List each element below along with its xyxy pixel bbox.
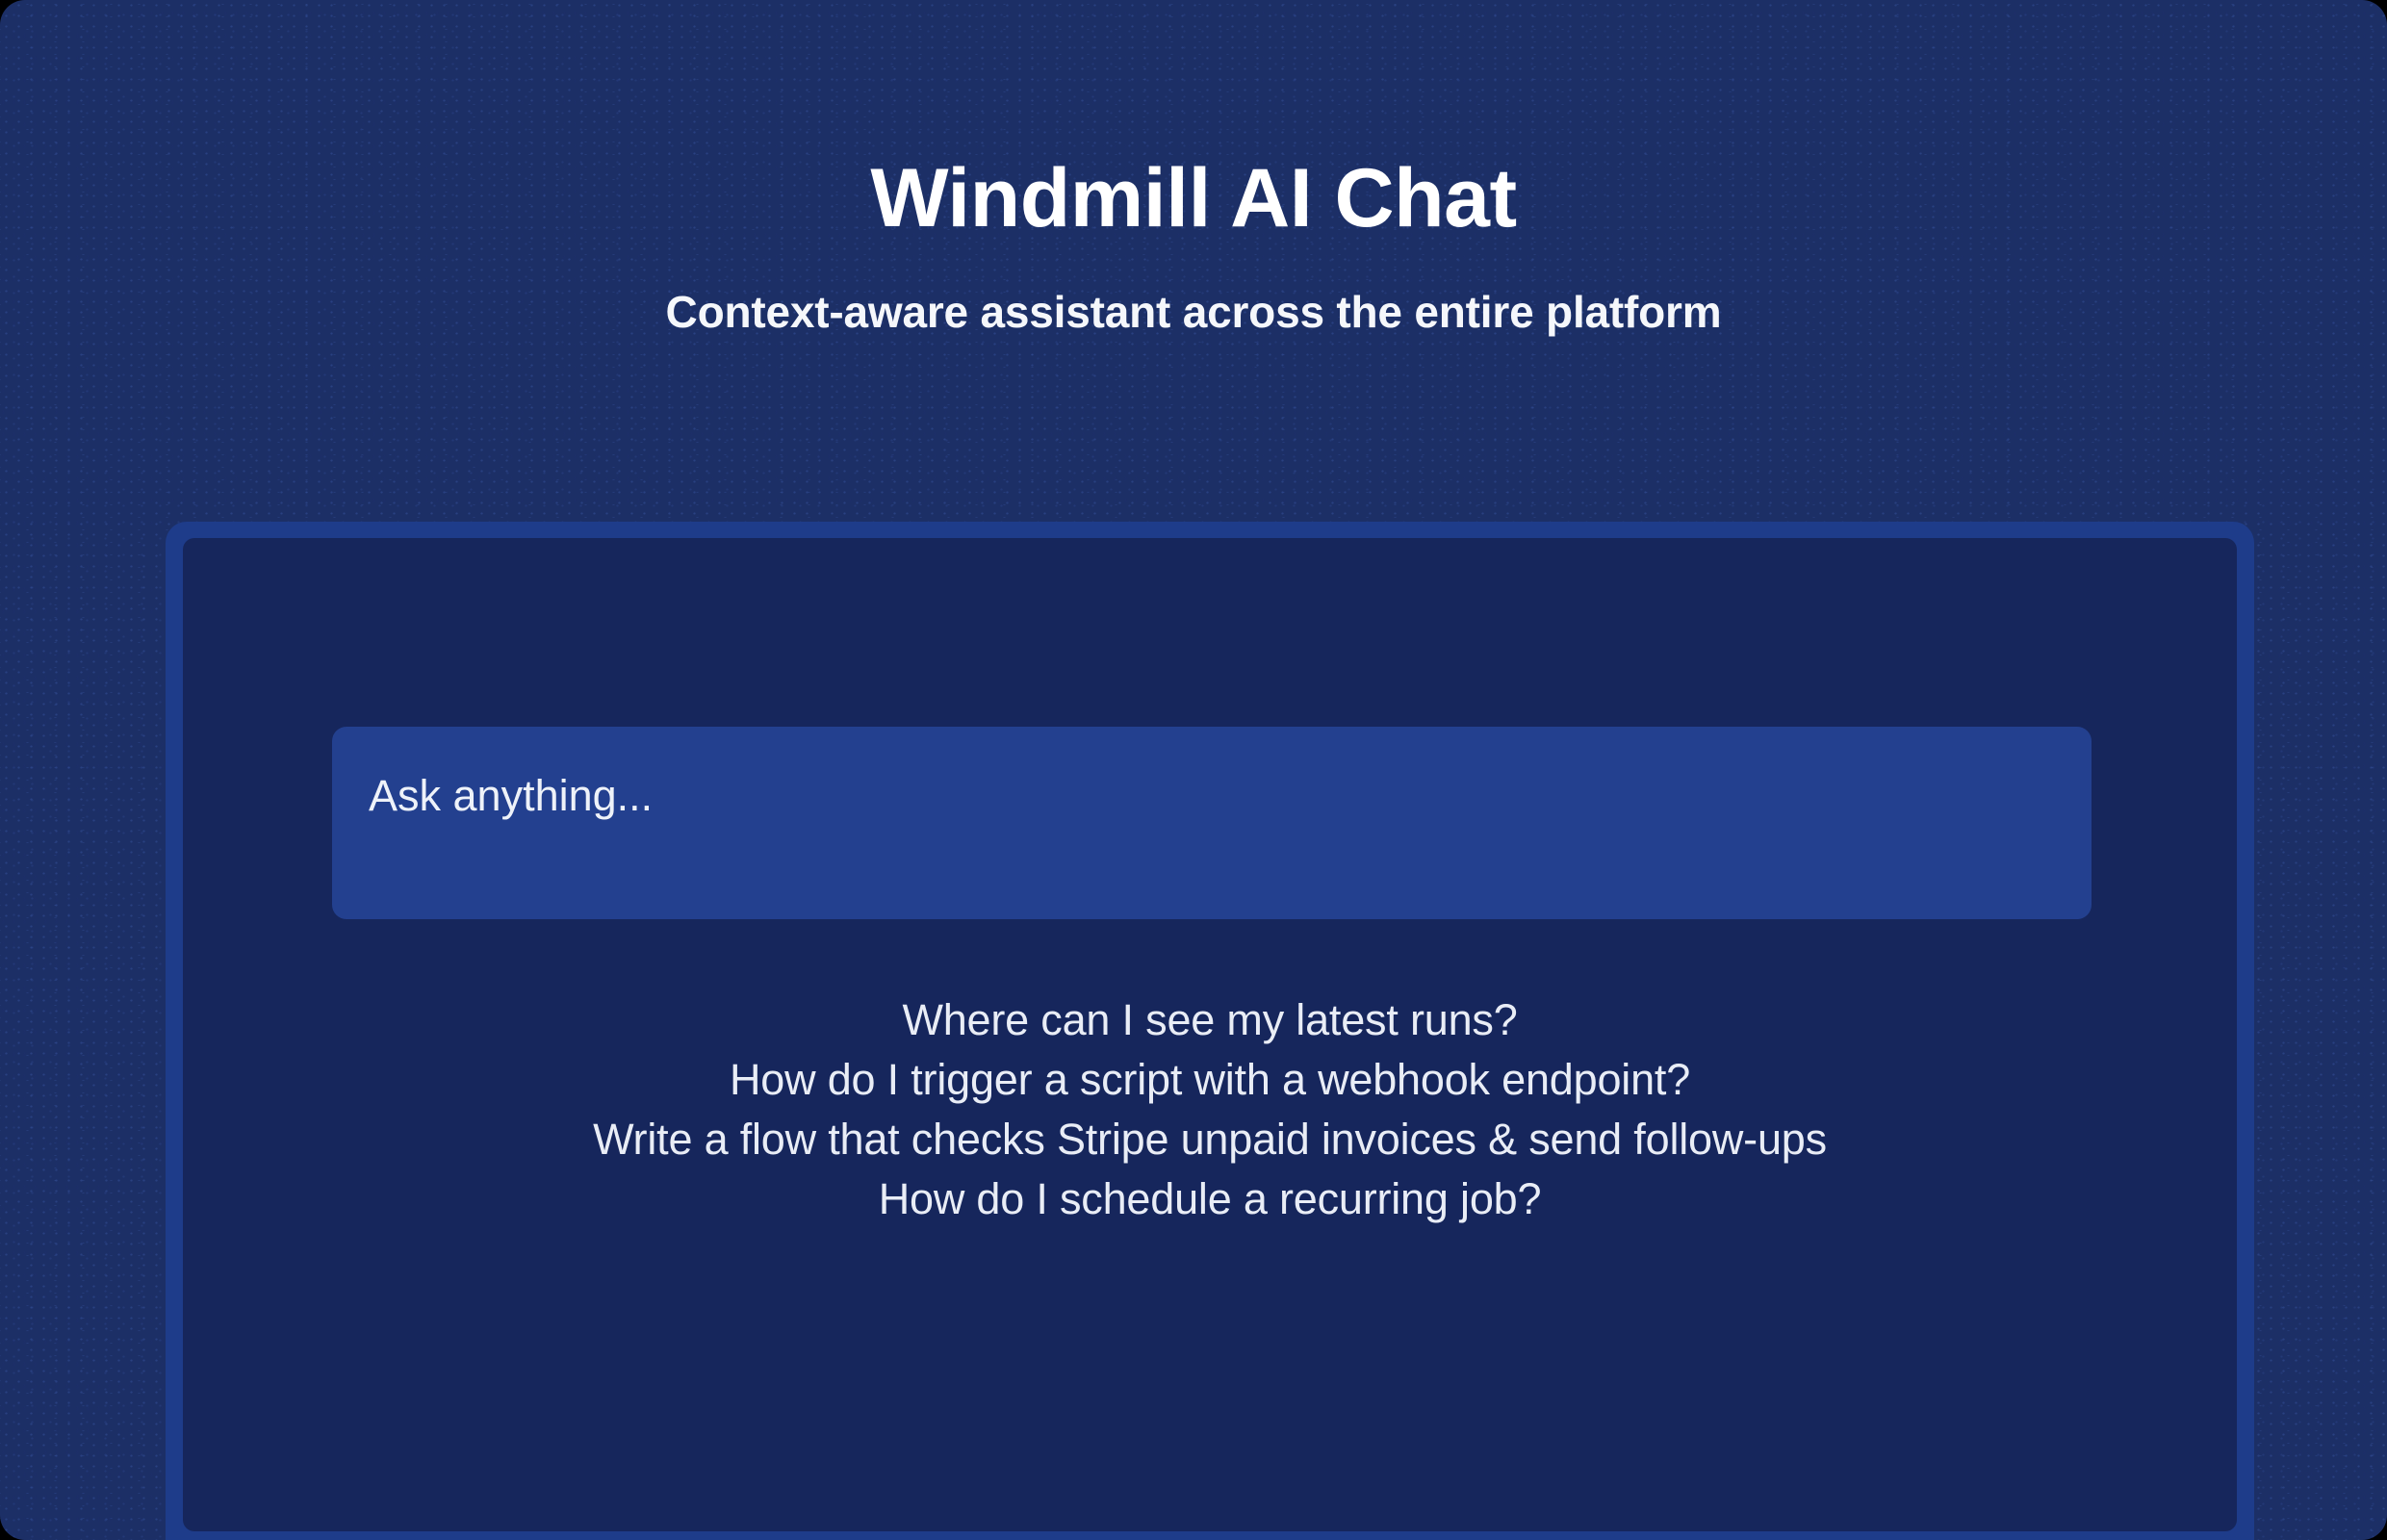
suggestion-item[interactable]: How do I schedule a recurring job? — [183, 1169, 2237, 1229]
suggestion-item[interactable]: How do I trigger a script with a webhook… — [183, 1050, 2237, 1110]
page-title: Windmill AI Chat — [0, 0, 2387, 240]
page-subtitle: Context-aware assistant across the entir… — [0, 240, 2387, 334]
suggestion-list: Where can I see my latest runs? How do I… — [183, 990, 2237, 1229]
suggestion-item[interactable]: Write a flow that checks Stripe unpaid i… — [183, 1110, 2237, 1169]
app-root: Windmill AI Chat Context-aware assistant… — [0, 0, 2387, 1540]
chat-input[interactable] — [332, 727, 2092, 919]
chat-panel: Where can I see my latest runs? How do I… — [183, 538, 2237, 1531]
hero-header: Windmill AI Chat Context-aware assistant… — [0, 0, 2387, 334]
chat-card: Where can I see my latest runs? How do I… — [166, 522, 2254, 1540]
suggestion-item[interactable]: Where can I see my latest runs? — [183, 990, 2237, 1050]
